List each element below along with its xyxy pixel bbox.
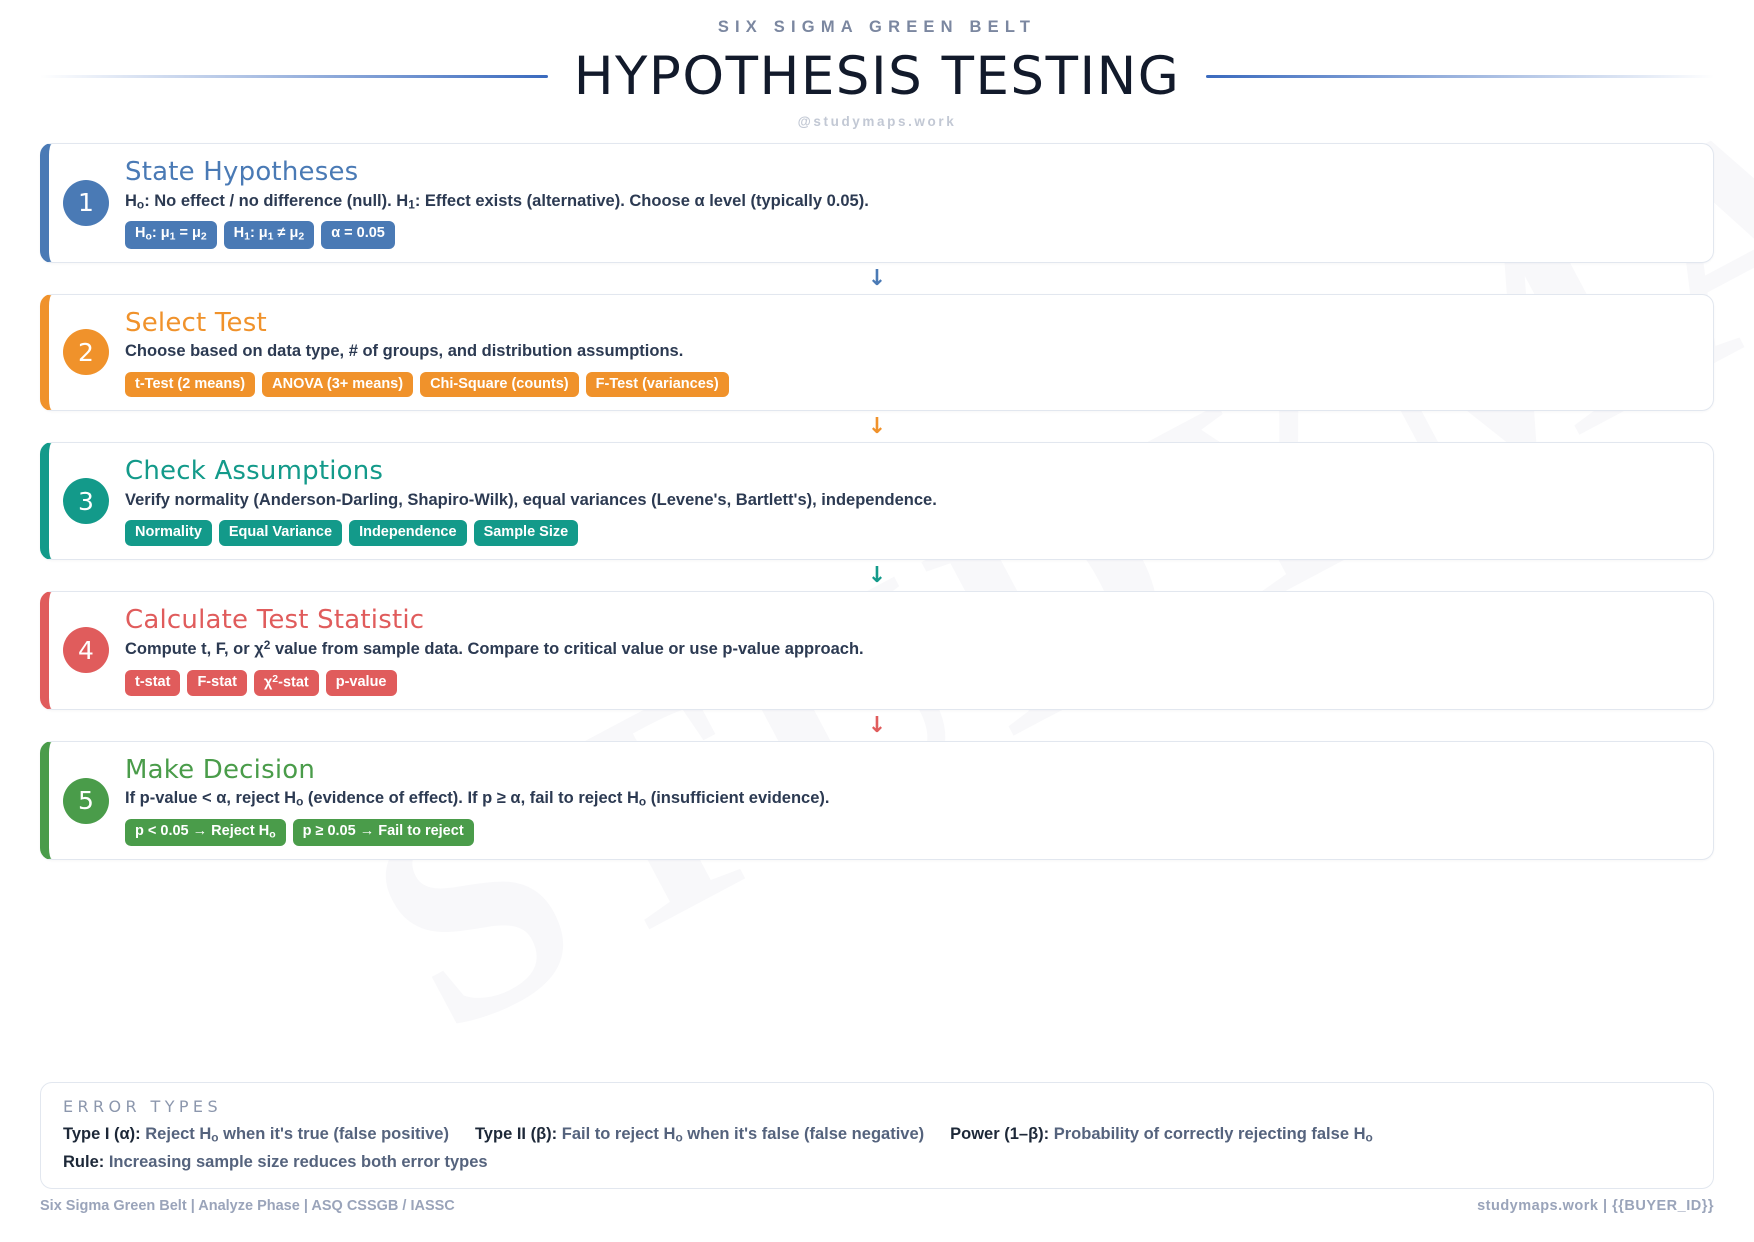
step-tags-2: t-Test (2 means)ANOVA (3+ means)Chi-Squa…	[125, 372, 1695, 398]
step-body-3: Check Assumptions Verify normality (Ande…	[125, 456, 1695, 546]
step-body-5: Make Decision If p-value < α, reject Ho …	[125, 755, 1695, 847]
kicker-label: SIX SIGMA GREEN BELT	[40, 18, 1714, 37]
tag-pill: Chi-Square (counts)	[420, 372, 579, 398]
tag-pill: p ≥ 0.05 → Fail to reject	[293, 819, 474, 846]
flow-arrow-1-icon: ↓	[40, 263, 1714, 294]
error-type-item-1: Type I (α): Reject Ho when it's true (fa…	[63, 1125, 449, 1145]
error-types-heading: ERROR TYPES	[63, 1097, 1691, 1116]
tag-pill: H1: μ1 ≠ μ2	[224, 221, 315, 248]
tag-pill: F-Test (variances)	[586, 372, 729, 398]
step-description-3: Verify normality (Anderson-Darling, Shap…	[125, 489, 1695, 511]
step-title-5: Make Decision	[125, 755, 1695, 786]
step-card-1: 1 State Hypotheses Ho: No effect / no di…	[40, 143, 1714, 263]
tag-pill: Ho: μ1 = μ2	[125, 221, 217, 248]
step-body-4: Calculate Test Statistic Compute t, F, o…	[125, 605, 1695, 696]
step-tags-1: Ho: μ1 = μ2H1: μ1 ≠ μ2α = 0.05	[125, 221, 1695, 248]
infographic-page: STUDYMAPS SIX SIGMA GREEN BELT HYPOTHESI…	[0, 0, 1754, 1242]
page-header: SIX SIGMA GREEN BELT HYPOTHESIS TESTING …	[40, 0, 1714, 129]
error-types-rule: Rule: Increasing sample size reduces bot…	[63, 1153, 1691, 1172]
step-number-badge-3: 3	[63, 478, 109, 524]
step-card-5: 5 Make Decision If p-value < α, reject H…	[40, 741, 1714, 861]
step-tags-5: p < 0.05 → Reject Hop ≥ 0.05 → Fail to r…	[125, 819, 1695, 846]
step-description-5: If p-value < α, reject Ho (evidence of e…	[125, 787, 1695, 810]
title-rule-left-icon	[40, 75, 548, 78]
error-types-panel: ERROR TYPES Type I (α): Reject Ho when i…	[40, 1082, 1714, 1189]
step-description-4: Compute t, F, or χ2 value from sample da…	[125, 637, 1695, 660]
step-number-badge-5: 5	[63, 778, 109, 824]
page-title: HYPOTHESIS TESTING	[574, 46, 1181, 107]
step-description-2: Choose based on data type, # of groups, …	[125, 340, 1695, 362]
error-types-rule-value: Increasing sample size reduces both erro…	[109, 1153, 488, 1171]
error-type-key-1: Type I (α):	[63, 1125, 141, 1143]
flow-arrow-2-icon: ↓	[40, 411, 1714, 442]
step-title-4: Calculate Test Statistic	[125, 605, 1695, 636]
tag-pill: t-stat	[125, 670, 180, 696]
footer-right-label: studymaps.work | {{BUYER_ID}}	[1477, 1198, 1714, 1214]
step-number-badge-2: 2	[63, 329, 109, 375]
tag-pill: Sample Size	[474, 520, 579, 546]
step-card-2: 2 Select Test Choose based on data type,…	[40, 294, 1714, 412]
error-type-key-2: Type II (β):	[475, 1125, 557, 1143]
tag-pill: Equal Variance	[219, 520, 342, 546]
step-tags-4: t-statF-statχ2-statp-value	[125, 670, 1695, 696]
error-type-value-3: Probability of correctly rejecting false…	[1054, 1125, 1373, 1143]
step-card-3: 3 Check Assumptions Verify normality (An…	[40, 442, 1714, 560]
tag-pill: Independence	[349, 520, 467, 546]
step-number-badge-4: 4	[63, 627, 109, 673]
title-rule-right-icon	[1206, 75, 1714, 78]
flow-arrow-3-icon: ↓	[40, 560, 1714, 591]
footer-left-label: Six Sigma Green Belt | Analyze Phase | A…	[40, 1198, 455, 1214]
tag-pill: χ2-stat	[254, 670, 319, 696]
step-description-1: Ho: No effect / no difference (null). H1…	[125, 190, 1695, 213]
step-tags-3: NormalityEqual VarianceIndependenceSampl…	[125, 520, 1695, 546]
handle-label: @studymaps.work	[40, 114, 1714, 129]
step-title-1: State Hypotheses	[125, 157, 1695, 188]
tag-pill: F-stat	[187, 670, 246, 696]
flow-arrow-4-icon: ↓	[40, 710, 1714, 741]
tag-pill: t-Test (2 means)	[125, 372, 255, 398]
error-types-rule-key: Rule:	[63, 1153, 104, 1171]
step-title-2: Select Test	[125, 308, 1695, 339]
tag-pill: ANOVA (3+ means)	[262, 372, 413, 398]
error-type-key-3: Power (1–β):	[950, 1125, 1049, 1143]
step-title-3: Check Assumptions	[125, 456, 1695, 487]
step-body-1: State Hypotheses Ho: No effect / no diff…	[125, 157, 1695, 249]
tag-pill: p-value	[326, 670, 397, 696]
error-type-value-1: Reject Ho when it's true (false positive…	[145, 1125, 449, 1143]
step-number-badge-1: 1	[63, 180, 109, 226]
step-card-4: 4 Calculate Test Statistic Compute t, F,…	[40, 591, 1714, 710]
tag-pill: p < 0.05 → Reject Ho	[125, 819, 286, 846]
title-row: HYPOTHESIS TESTING	[40, 46, 1714, 107]
tag-pill: α = 0.05	[321, 221, 395, 248]
error-types-row: Type I (α): Reject Ho when it's true (fa…	[63, 1125, 1691, 1145]
page-footer: Six Sigma Green Belt | Analyze Phase | A…	[40, 1198, 1714, 1214]
tag-pill: Normality	[125, 520, 212, 546]
steps-list: 1 State Hypotheses Ho: No effect / no di…	[40, 143, 1714, 860]
error-type-value-2: Fail to reject Ho when it's false (false…	[562, 1125, 924, 1143]
error-type-item-2: Type II (β): Fail to reject Ho when it's…	[475, 1125, 924, 1145]
error-type-item-3: Power (1–β): Probability of correctly re…	[950, 1125, 1373, 1145]
step-body-2: Select Test Choose based on data type, #…	[125, 308, 1695, 398]
